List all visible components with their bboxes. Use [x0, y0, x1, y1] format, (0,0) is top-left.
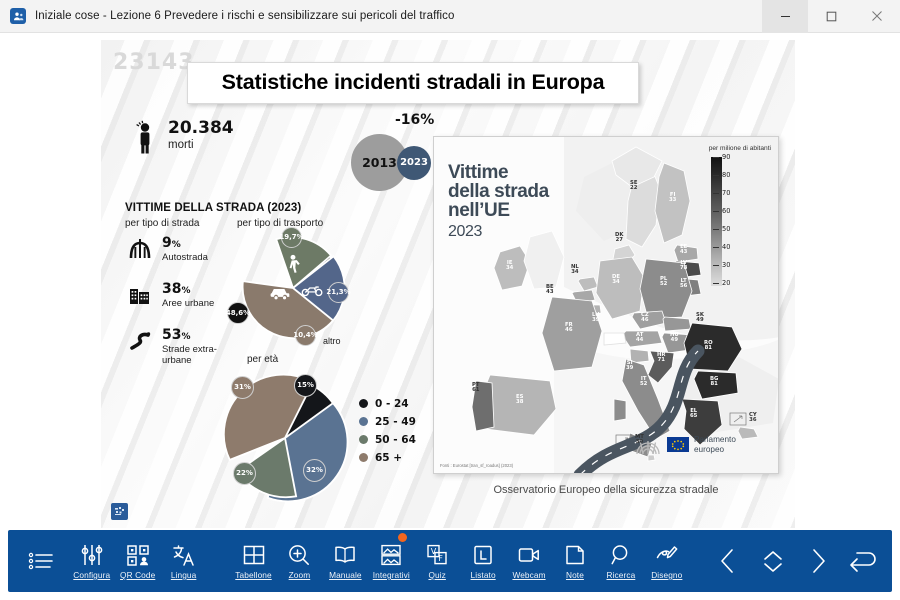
scale-tick: 40 [722, 243, 730, 251]
toolbar-item-qr-code[interactable]: QR Code [115, 533, 161, 589]
country-label-EL: EL65 [690, 409, 697, 420]
color-scale-bar [711, 157, 722, 286]
data-label-bubble: 48,6% [227, 302, 249, 324]
winding-road-icon [127, 328, 153, 351]
zoom-in-icon [287, 542, 311, 568]
country-label-FI: FI33 [669, 193, 676, 204]
ep-text-line1: Parlamento [694, 435, 736, 444]
deaths-value: 20.384 [168, 120, 234, 138]
road-value: 9 [162, 235, 172, 251]
map-title-line2: della strada [448, 181, 549, 202]
legend-swatch [359, 399, 368, 408]
eu-flag-icon [667, 437, 689, 452]
data-label-bubble: 22% [233, 462, 256, 485]
map-title-line3: nell’UE [448, 200, 510, 221]
scale-ticks: 90 80 70 60 50 40 30 20 [722, 151, 748, 291]
deaths-label: morti [168, 139, 234, 153]
data-label-bubble: 21,3% [328, 282, 349, 303]
country-label-BG: BG81 [710, 377, 718, 388]
toolbar-label: Disegno [651, 570, 682, 580]
country-label-PL: PL52 [660, 277, 667, 288]
slide-caption: Osservatorio Europeo della sicurezza str… [433, 484, 779, 496]
window-controls [762, 0, 900, 33]
legend-label: 50 - 64 [375, 434, 416, 446]
scale-tick: 50 [722, 225, 730, 233]
data-label-bubble: 19,7% [281, 227, 302, 248]
country-label-IT: IT52 [640, 377, 647, 388]
country-label-PT: PT61 [472, 383, 480, 394]
toolbar-label: Quiz [428, 570, 445, 580]
toolbar-item-listato[interactable]: Listato [460, 533, 506, 589]
road-unit: % [172, 240, 181, 250]
toolbar-label: Configura [73, 570, 110, 580]
road-value: 53 [162, 327, 181, 343]
data-label-bubble: 31% [231, 376, 254, 399]
road-label: Aree urbane [162, 298, 214, 309]
toolbar-label: Listato [471, 570, 496, 580]
slide-number: 23143 [113, 50, 195, 75]
toolbar-item-disegno[interactable]: Disegno [644, 533, 690, 589]
road-label: Strade extra-urbane [162, 344, 235, 366]
toolbar-item-quiz[interactable]: V F Quiz [414, 533, 460, 589]
parlamento-europeo-logo: Parlamento europeo [634, 435, 736, 455]
road-unit: % [181, 332, 190, 342]
map-year: 2023 [448, 224, 570, 240]
list-menu-icon[interactable] [18, 533, 65, 589]
by-age-label: per età [247, 354, 278, 365]
country-label-RO: RO81 [704, 341, 713, 352]
legend-swatch [359, 417, 368, 426]
toolbar-item-zoom[interactable]: Zoom [276, 533, 322, 589]
country-label-EE: EE43 [680, 245, 687, 256]
country-label-LU: LU39 [592, 313, 600, 324]
eu-map-card: Vittime della strada nell’UE 2023 per mi… [433, 136, 779, 474]
data-label-bubble: 10,4% [295, 325, 316, 346]
subtitle-by-road: per tipo di strada [125, 218, 200, 229]
prev-slide-button[interactable] [706, 533, 751, 589]
legend-label: 0 - 24 [375, 398, 409, 410]
altro-label: altro [323, 336, 341, 346]
toolbar-label: Lingua [171, 570, 197, 580]
qr-code-icon [126, 542, 150, 568]
chevron-left-icon [716, 548, 740, 574]
next-slide-button[interactable] [796, 533, 841, 589]
toolbar-label: Manuale [329, 570, 362, 580]
toolbar-label: Note [566, 570, 584, 580]
scale-tick: 30 [722, 261, 730, 269]
map-title-line1: Vittime [448, 162, 508, 183]
legend-swatch [359, 453, 368, 462]
country-label-LV: LV78 [680, 261, 687, 272]
toolbar-item-integrativi[interactable]: Integrativi [368, 533, 414, 589]
maximize-button[interactable] [808, 0, 854, 33]
toolbar-label: Zoom [289, 570, 311, 580]
slide-frame: 23143 Statistiche incidenti stradali in … [0, 33, 900, 528]
country-label-AT: AT44 [636, 333, 643, 344]
country-label-SE: SE22 [630, 181, 637, 192]
country-label-SI: SI39 [626, 361, 633, 372]
notification-badge [398, 533, 407, 542]
country-label-NL: NL34 [571, 265, 579, 276]
country-label-HR: HR71 [657, 353, 666, 364]
country-label-DE: DE34 [612, 275, 620, 286]
country-label-DK: DK27 [615, 233, 624, 244]
list-item: 9% Autostrada [127, 236, 235, 270]
toolbar-item-configura[interactable]: Configura [69, 533, 115, 589]
back-button[interactable] [841, 533, 886, 589]
book-icon [333, 542, 357, 568]
road-label: Autostrada [162, 252, 208, 263]
toolbar-label: Integrativi [373, 570, 410, 580]
road-unit: % [181, 286, 190, 296]
pencil-icon [655, 542, 679, 568]
quiz-vf-icon: V F [425, 542, 449, 568]
legend-item: 50 - 64 [359, 434, 439, 446]
buildings-icon [127, 282, 153, 305]
scale-tick: 90 [722, 153, 730, 161]
scroll-updown-button[interactable] [751, 533, 796, 589]
ep-text-line2: europeo [694, 445, 724, 454]
toolbar-label: Tabellone [235, 570, 271, 580]
change-percent: -16% [395, 112, 434, 128]
note-icon [563, 542, 587, 568]
svg-text:F: F [438, 554, 443, 563]
year-2023-bubble: 2023 [397, 146, 431, 180]
legend-item: 0 - 24 [359, 398, 439, 410]
country-label-IE: IE34 [506, 261, 513, 272]
chevron-right-icon [806, 548, 830, 574]
map-title: Vittime della strada nell’UE 2023 [448, 163, 570, 240]
infographic-left: 20.384 morti -16% 2013 2023 VITTIME DELL… [119, 118, 449, 518]
scale-tick: 20 [722, 279, 730, 287]
window-title: Iniziale cose - Lezione 6 Prevedere i ri… [35, 10, 762, 22]
listato-l-icon [471, 542, 495, 568]
toolbar-item-webcam[interactable]: Webcam [506, 533, 552, 589]
country-label-SK: SK49 [696, 313, 704, 324]
scale-tick: 80 [722, 171, 730, 179]
app-icon [10, 8, 26, 24]
country-label-BE: BE43 [546, 285, 554, 296]
pedestrian-icon [134, 120, 156, 154]
slide-title-box: Statistiche incidenti stradali in Europa [187, 62, 639, 104]
toolbar-item-lingua[interactable]: Lingua [161, 533, 207, 589]
country-label-CZ: CZ46 [641, 313, 649, 324]
magnifier-icon [609, 542, 633, 568]
scale-tick: 70 [722, 189, 730, 197]
window-titlebar: Iniziale cose - Lezione 6 Prevedere i ri… [0, 0, 900, 33]
legend-item: 25 - 49 [359, 416, 439, 428]
data-label-bubble: 15% [294, 374, 317, 397]
page-title: Statistiche incidenti stradali in Europa [222, 70, 605, 95]
data-label-bubble: 32% [303, 459, 326, 482]
country-label-FR: FR46 [565, 323, 573, 334]
close-button[interactable] [854, 0, 900, 33]
country-label-HU: HU49 [670, 333, 679, 344]
highway-icon [127, 236, 153, 259]
minimize-button[interactable] [762, 0, 808, 33]
parliament-hemicycle-icon [634, 435, 662, 455]
list-item: 53% Strade extra-urbane [127, 328, 235, 362]
legend-swatch [359, 435, 368, 444]
toolbar-item-tabellone[interactable]: Tabellone [231, 533, 277, 589]
by-road-list: 9% Autostrada [127, 236, 235, 374]
webcam-icon [517, 542, 541, 568]
images-icon [379, 542, 403, 568]
bottom-toolbar: Configura QR Code [0, 528, 900, 600]
age-pie-chart: 15% 32% 22% 31% 0 - 24 25 - 49 50 - [219, 368, 449, 513]
toolbar-label: Ricerca [606, 570, 635, 580]
map-source: Fonti : Eurostat [tran_sf_roadus] (2023) [440, 463, 513, 468]
translate-icon [172, 542, 196, 568]
deaths-stat: 20.384 morti [134, 120, 234, 154]
ep-logo-text: Parlamento europeo [694, 435, 736, 453]
sliders-icon [80, 542, 104, 568]
legend-label: 25 - 49 [375, 416, 416, 428]
subtitle-by-transport: per tipo di trasporto [237, 218, 323, 229]
toolbar-item-manuale[interactable]: Manuale [322, 533, 368, 589]
country-label-ES: ES38 [516, 395, 523, 406]
scale-tick: 60 [722, 207, 730, 215]
toolbar-bar: Configura QR Code [8, 530, 892, 592]
country-label-CY: CY36 [749, 413, 757, 424]
list-item: 38% Aree urbane [127, 282, 235, 316]
country-label-LT: LT56 [680, 279, 687, 290]
legend-item: 65 + [359, 452, 439, 464]
section-title: VITTIME DELLA STRADA (2023) [125, 202, 301, 214]
presentation-slide[interactable]: 23143 Statistiche incidenti stradali in … [101, 40, 795, 528]
road-value: 38 [162, 281, 181, 297]
toolbar-item-ricerca[interactable]: Ricerca [598, 533, 644, 589]
toolbar-item-note[interactable]: Note [552, 533, 598, 589]
chevron-updown-icon [760, 548, 786, 574]
grid-icon [242, 542, 266, 568]
svg-text:V: V [431, 547, 437, 556]
legend-label: 65 + [375, 452, 402, 464]
age-legend: 0 - 24 25 - 49 50 - 64 65 + [359, 398, 439, 470]
slide-viewer: 23143 Statistiche incidenti stradali in … [0, 33, 900, 528]
return-arrow-icon [848, 548, 878, 574]
toolbar-label: Webcam [512, 570, 545, 580]
school-logo [111, 503, 128, 520]
toolbar-label: QR Code [120, 570, 155, 580]
transport-pie-chart: 48,6% 19,7% 21,3% 10,4% [231, 230, 361, 345]
